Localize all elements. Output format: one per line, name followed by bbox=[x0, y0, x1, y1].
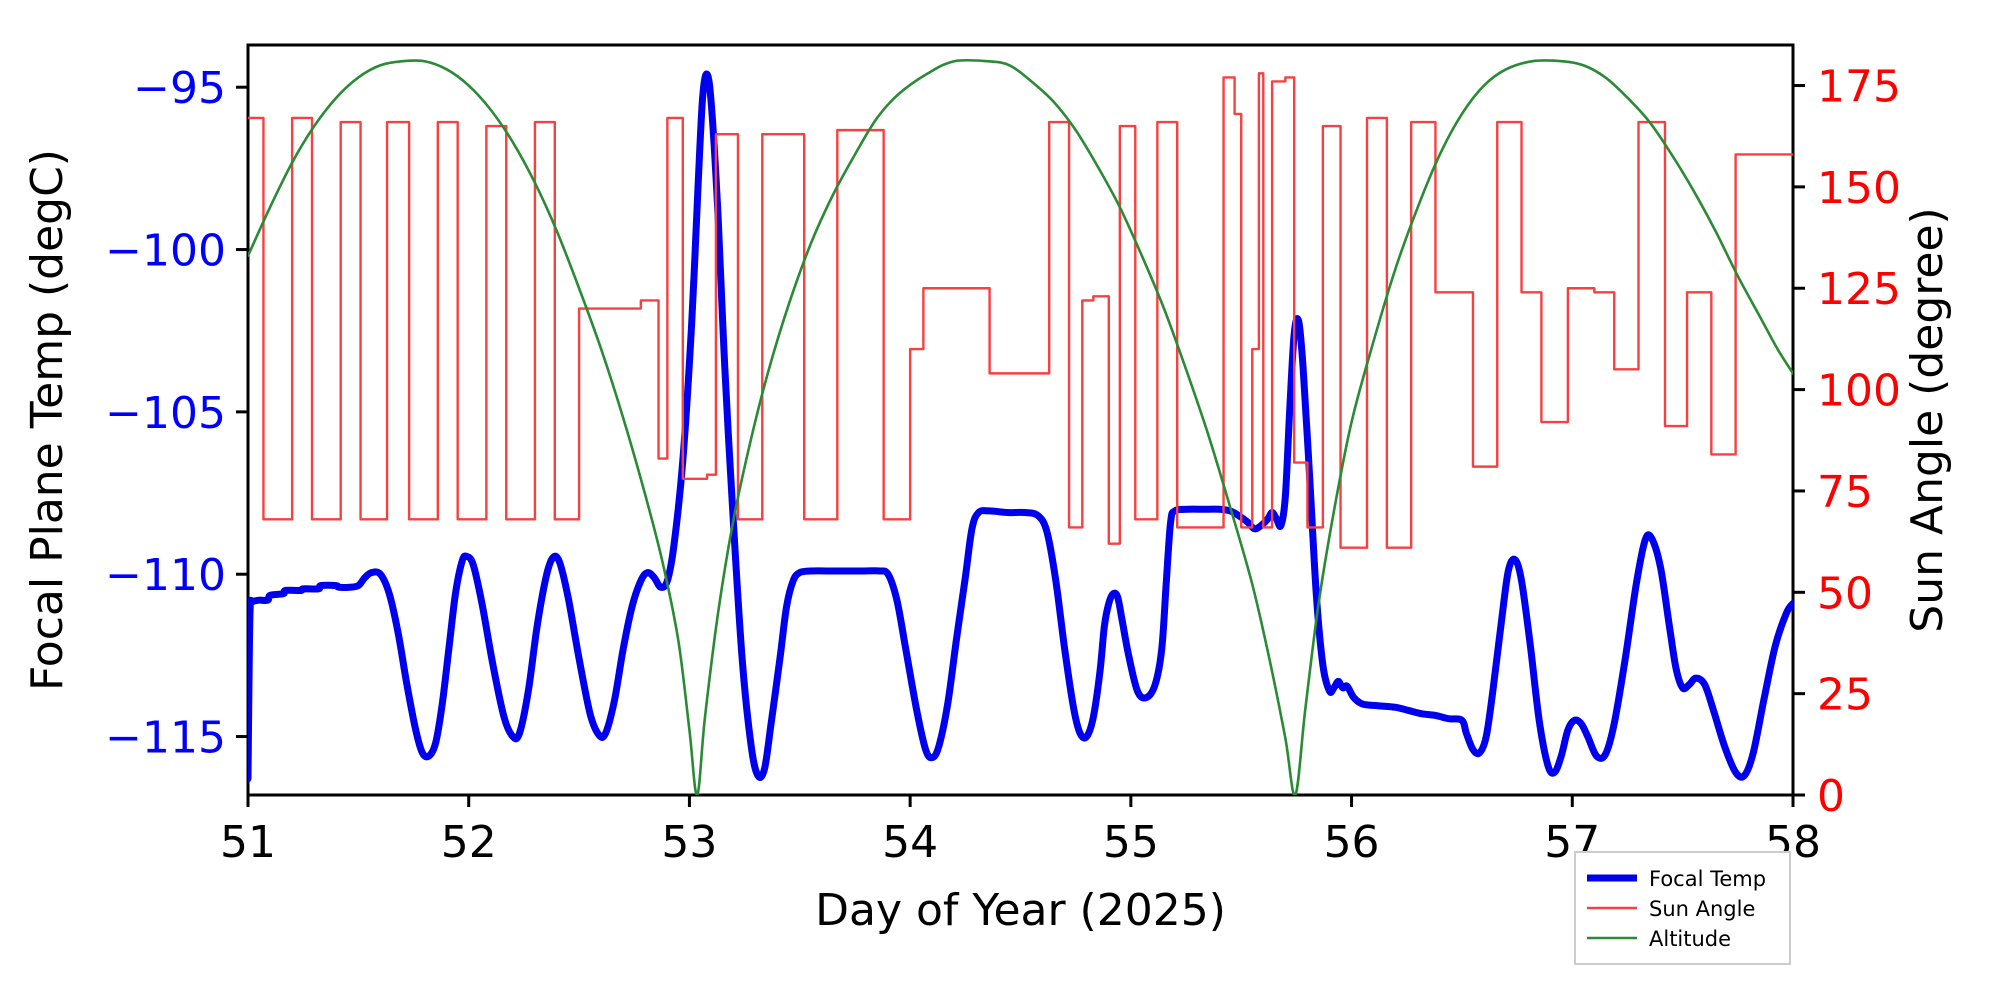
y-left-tick-label: −95 bbox=[133, 63, 226, 114]
y-right-tick-label: 150 bbox=[1817, 163, 1901, 214]
legend-label[interactable]: Focal Temp bbox=[1649, 867, 1766, 891]
x-tick-label: 53 bbox=[661, 817, 717, 868]
legend-label[interactable]: Altitude bbox=[1649, 927, 1731, 951]
x-tick-label: 56 bbox=[1324, 817, 1380, 868]
y-left-tick-label: −100 bbox=[105, 226, 226, 277]
y-right-tick-label: 50 bbox=[1817, 568, 1873, 619]
y-left-tick-label: −110 bbox=[105, 550, 226, 601]
y-right-tick-label: 75 bbox=[1817, 467, 1873, 518]
x-tick-label: 55 bbox=[1103, 817, 1159, 868]
x-tick-label: 52 bbox=[441, 817, 497, 868]
figure-root: 5152535455565758−95−100−105−110−11502550… bbox=[0, 0, 2000, 1000]
chart-legend[interactable]: Focal TempSun AngleAltitude bbox=[1575, 852, 1790, 964]
x-axis-title: Day of Year (2025) bbox=[815, 885, 1226, 936]
y-right-tick-label: 125 bbox=[1817, 264, 1901, 315]
x-tick-label: 54 bbox=[882, 817, 938, 868]
x-tick-label: 51 bbox=[220, 817, 276, 868]
y-right-tick-label: 25 bbox=[1817, 670, 1873, 721]
y-axis-title-left: Focal Plane Temp (degC) bbox=[22, 149, 73, 691]
y-right-tick-label: 0 bbox=[1817, 771, 1845, 822]
y-left-tick-label: −105 bbox=[105, 388, 226, 439]
y-right-tick-label: 175 bbox=[1817, 62, 1901, 113]
legend-label[interactable]: Sun Angle bbox=[1649, 897, 1755, 921]
y-axis-title-right: Sun Angle (degree) bbox=[1902, 207, 1953, 632]
y-right-tick-label: 100 bbox=[1817, 366, 1901, 417]
chart-canvas: 5152535455565758−95−100−105−110−11502550… bbox=[0, 0, 2000, 1000]
y-left-tick-label: −115 bbox=[105, 713, 226, 764]
